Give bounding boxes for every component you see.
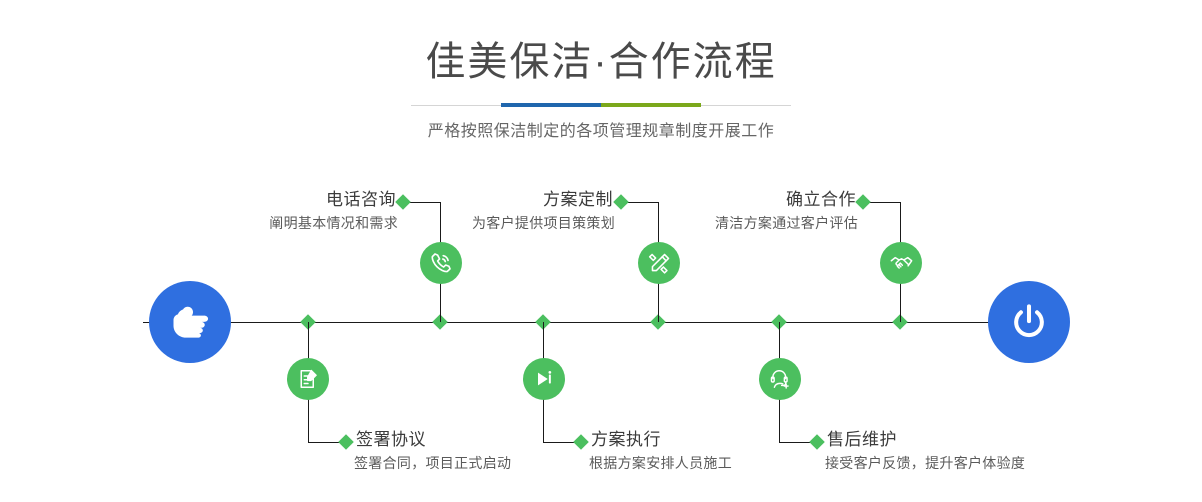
step-desc-5: 清洁方案通过客户评估 <box>573 212 858 234</box>
step-icon-6[interactable] <box>759 358 801 400</box>
pointing-hand-icon <box>168 300 212 344</box>
process-timeline: 电话咨询 阐明基本情况和需求 签署协议 签署合同，项目正式启动 <box>0 0 1202 502</box>
play-execute-icon <box>532 367 556 391</box>
handshake-icon <box>889 251 914 276</box>
step-title-6: 售后维护 <box>825 428 1145 452</box>
connector-marker-step2 <box>338 434 354 450</box>
flow-diagram-page: 佳美保洁·合作流程 严格按照保洁制定的各项管理规章制度开展工作 <box>0 0 1202 502</box>
step-title-5: 确立合作 <box>573 188 858 212</box>
timeline-axis <box>143 322 1059 323</box>
timeline-start-node[interactable] <box>149 281 231 363</box>
headset-support-icon <box>768 367 792 391</box>
phone-call-icon <box>429 251 453 275</box>
document-edit-icon <box>296 367 320 391</box>
step-icon-2[interactable] <box>287 358 329 400</box>
step-icon-3[interactable] <box>638 242 680 284</box>
pencil-ruler-icon <box>647 251 672 276</box>
step-icon-5[interactable] <box>880 242 922 284</box>
timeline-end-node[interactable] <box>988 281 1070 363</box>
step-icon-4[interactable] <box>523 358 565 400</box>
step-desc-6: 接受客户反馈，提升客户体验度 <box>825 452 1145 474</box>
power-icon <box>1007 300 1051 344</box>
step-label-6: 售后维护 接受客户反馈，提升客户体验度 <box>825 428 1145 474</box>
step-label-5: 确立合作 清洁方案通过客户评估 <box>573 188 858 234</box>
step-icon-1[interactable] <box>420 242 462 284</box>
